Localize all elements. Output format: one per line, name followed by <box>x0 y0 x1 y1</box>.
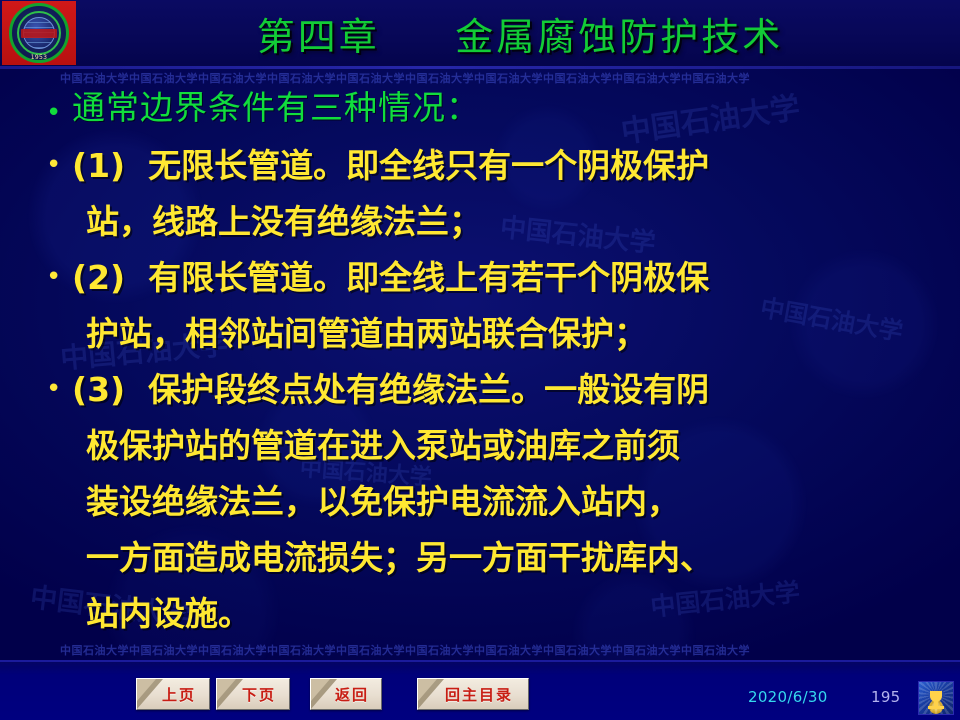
slide-header: 1953 第四章 金属腐蚀防护技术 <box>0 0 960 66</box>
text-line: 装设绝缘法兰，以免保护电流流入站内， <box>72 474 946 530</box>
bullet-text: (1) 无限长管道。即全线只有一个阴极保护 站，线路上没有绝缘法兰； <box>72 138 946 250</box>
text-line: 站内设施。 <box>72 586 946 642</box>
bullet-marker: • <box>46 138 72 178</box>
bullet-item: • (2) 有限长管道。即全线上有若干个阴极保 护站，相邻站间管道由两站联合保护… <box>0 250 960 362</box>
text-line: 极保护站的管道在进入泵站或油库之前须 <box>72 418 946 474</box>
previous-page-button[interactable]: 上页 <box>136 678 210 710</box>
bullet-item: • (3) 保护段终点处有绝缘法兰。一般设有阴 极保护站的管道在进入泵站或油库之… <box>0 362 960 642</box>
text-line: 护站，相邻站间管道由两站联合保护； <box>72 306 946 362</box>
bullet-marker: • <box>46 362 72 402</box>
trophy-emblem-icon <box>918 681 954 715</box>
text-line: (2) 有限长管道。即全线上有若干个阴极保 <box>72 250 946 306</box>
logo-year: 1953 <box>2 54 76 61</box>
decorative-band-top: 中国石油大学中国石油大学中国石油大学中国石油大学中国石油大学中国石油大学中国石油… <box>60 70 910 86</box>
main-menu-button[interactable]: 回主目录 <box>417 678 529 710</box>
bullet-text: (2) 有限长管道。即全线上有若干个阴极保 护站，相邻站间管道由两站联合保护； <box>72 250 946 362</box>
slide-page-number: 195 <box>871 688 901 706</box>
return-button[interactable]: 返回 <box>310 678 382 710</box>
text-line: (1) 无限长管道。即全线只有一个阴极保护 <box>72 138 946 194</box>
bullet-marker: • <box>46 250 72 290</box>
page-title: 第四章 金属腐蚀防护技术 <box>90 0 950 66</box>
text-line: 通常边界条件有三种情况： <box>72 86 946 130</box>
header-divider <box>0 66 960 69</box>
decorative-band-bottom: 中国石油大学中国石油大学中国石油大学中国石油大学中国石油大学中国石油大学中国石油… <box>60 642 910 658</box>
text-line: 一方面造成电流损失；另一方面干扰库内、 <box>72 530 946 586</box>
slide-date: 2020/6/30 <box>748 688 828 706</box>
logo-name-plate <box>21 29 57 38</box>
emblem-base <box>928 706 944 709</box>
previous-page-label: 上页 <box>150 684 196 705</box>
text-line: 站，线路上没有绝缘法兰； <box>72 194 946 250</box>
presentation-slide: 中国石油大学 中国石油大学 中国石油大学 中国石油大学 中国石油大学 中国石油大… <box>0 0 960 720</box>
bullet-text: 通常边界条件有三种情况： <box>72 86 946 130</box>
return-label: 返回 <box>323 684 369 705</box>
text-line: (3) 保护段终点处有绝缘法兰。一般设有阴 <box>72 362 946 418</box>
slide-content: • 通常边界条件有三种情况： • (1) 无限长管道。即全线只有一个阴极保护 站… <box>0 86 960 642</box>
next-page-button[interactable]: 下页 <box>216 678 290 710</box>
bullet-text: (3) 保护段终点处有绝缘法兰。一般设有阴 极保护站的管道在进入泵站或油库之前须… <box>72 362 946 642</box>
university-logo: 1953 <box>2 1 76 65</box>
bullet-item: • 通常边界条件有三种情况： <box>0 86 960 130</box>
bullet-item: • (1) 无限长管道。即全线只有一个阴极保护 站，线路上没有绝缘法兰； <box>0 138 960 250</box>
bullet-marker: • <box>46 86 72 126</box>
main-menu-label: 回主目录 <box>433 684 513 705</box>
next-page-label: 下页 <box>230 684 276 705</box>
